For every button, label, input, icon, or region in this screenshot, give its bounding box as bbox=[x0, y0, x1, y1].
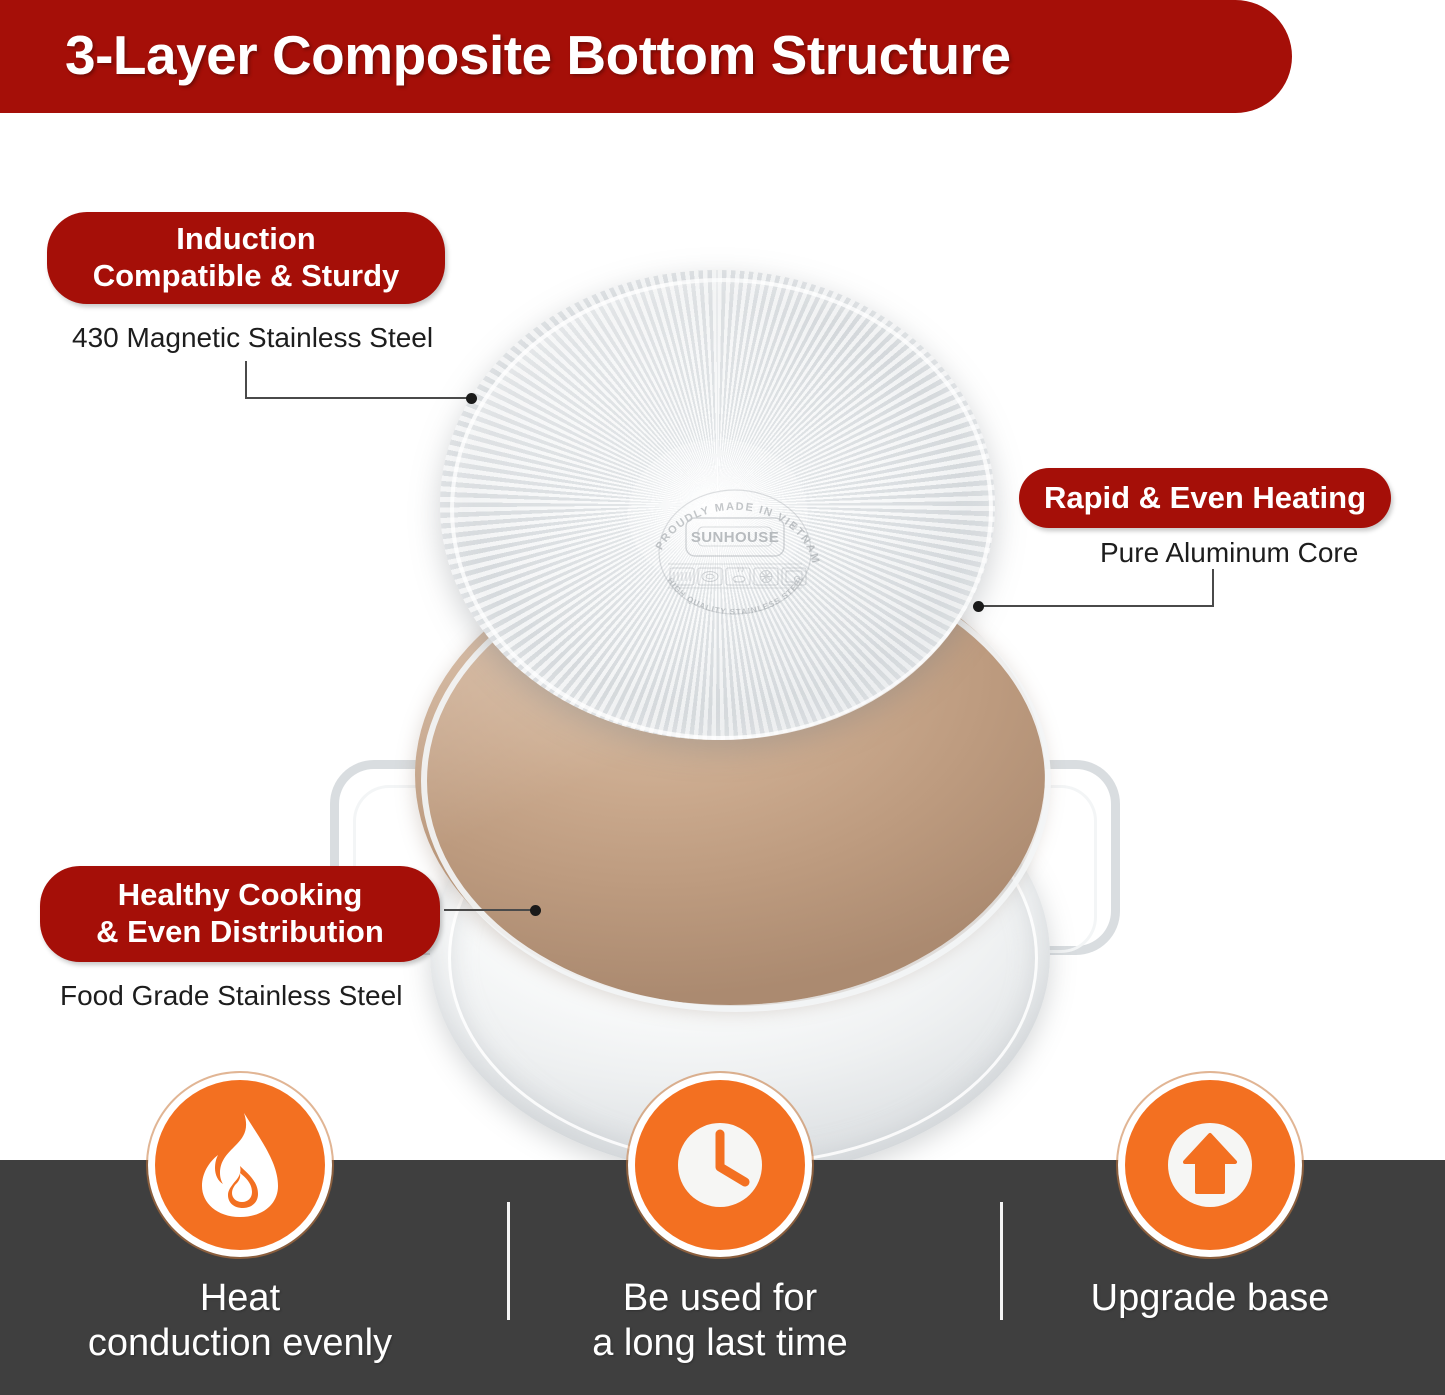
base-engraving: PROUDLY MADE IN VIETNAM HIGH QUALITY STA… bbox=[640, 480, 830, 625]
page-title: 3-Layer Composite Bottom Structure bbox=[65, 22, 1245, 88]
clock-icon bbox=[635, 1080, 805, 1250]
callout-pill-healthy-cooking: Healthy Cooking & Even Distribution bbox=[40, 866, 440, 962]
feature-1-line1: Be used for bbox=[623, 1277, 817, 1319]
callout-pill-healthy-line1: Healthy Cooking bbox=[118, 877, 363, 912]
feature-heat-conduction: Heat conduction evenly bbox=[30, 1080, 450, 1366]
callout-pill-induction-line2: Compatible & Sturdy bbox=[93, 258, 400, 293]
leader-line-induction-horizontal bbox=[245, 397, 472, 399]
callout-subcaption-healthy-cooking: Food Grade Stainless Steel bbox=[60, 980, 402, 1012]
callout-subcaption-rapid-heating: Pure Aluminum Core bbox=[1100, 537, 1358, 569]
callout-pill-healthy-line2: & Even Distribution bbox=[96, 914, 384, 949]
leader-line-rapid-vertical bbox=[1212, 569, 1214, 607]
svg-text:HIGH QUALITY STAINLESS STEEL: HIGH QUALITY STAINLESS STEEL bbox=[666, 573, 807, 617]
callout-subcaption-induction: 430 Magnetic Stainless Steel bbox=[72, 322, 433, 354]
leader-line-rapid-horizontal bbox=[979, 605, 1214, 607]
feature-2-line1: Upgrade base bbox=[1091, 1277, 1330, 1319]
callout-pill-rapid-line1: Rapid & Even Heating bbox=[1044, 480, 1366, 517]
feature-label-heat-conduction: Heat conduction evenly bbox=[30, 1276, 450, 1366]
feature-label-upgrade-base: Upgrade base bbox=[1000, 1276, 1420, 1321]
feature-1-line2: a long last time bbox=[592, 1322, 848, 1364]
feature-0-line2: conduction evenly bbox=[88, 1322, 392, 1364]
callout-pill-induction: Induction Compatible & Sturdy bbox=[47, 212, 445, 304]
feature-upgrade-base: Upgrade base bbox=[1000, 1080, 1420, 1321]
leader-line-induction-vertical bbox=[245, 361, 247, 399]
leader-line-healthy-horizontal bbox=[444, 909, 536, 911]
flame-icon bbox=[155, 1080, 325, 1250]
leader-dot-rapid bbox=[973, 601, 984, 612]
engraving-brand: SUNHOUSE bbox=[691, 529, 779, 546]
leader-dot-induction bbox=[466, 393, 477, 404]
feature-label-long-lasting: Be used for a long last time bbox=[510, 1276, 930, 1366]
feature-long-lasting: Be used for a long last time bbox=[510, 1080, 930, 1366]
engraving-arc-bottom: HIGH QUALITY STAINLESS STEEL bbox=[666, 573, 807, 617]
up-arrow-icon bbox=[1125, 1080, 1295, 1250]
engraving-registered-mark: ® bbox=[792, 523, 798, 531]
feature-0-line1: Heat bbox=[200, 1277, 280, 1319]
leader-dot-healthy bbox=[530, 905, 541, 916]
callout-pill-rapid-heating: Rapid & Even Heating bbox=[1019, 468, 1391, 528]
callout-pill-induction-line1: Induction bbox=[176, 221, 315, 256]
